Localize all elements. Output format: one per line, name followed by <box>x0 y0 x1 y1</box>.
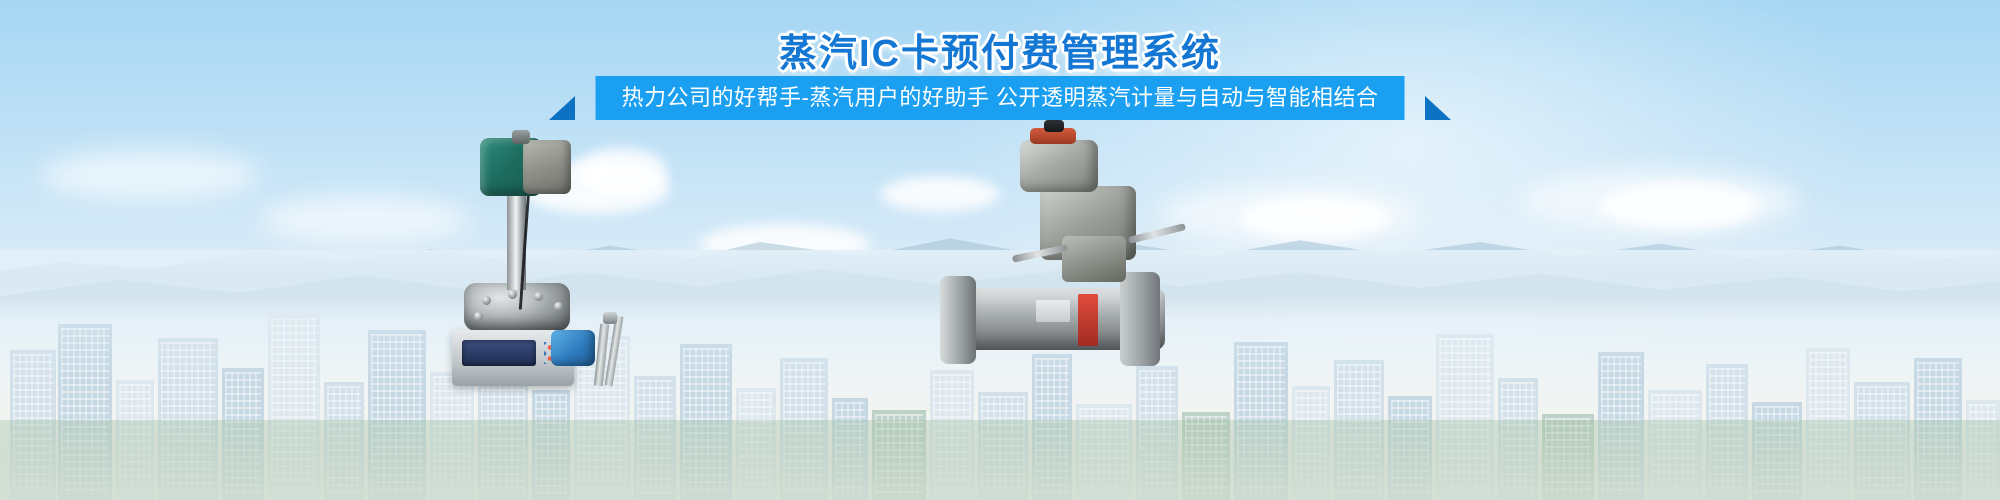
flange-bolt <box>482 296 491 305</box>
subtitle-text: 热力公司的好帮手-蒸汽用户的好助手 公开透明蒸汽计量与自动与智能相结合 <box>622 76 1379 120</box>
flange-bolt <box>508 290 517 299</box>
hero-banner: 蒸汽IC卡预付费管理系统 热力公司的好帮手-蒸汽用户的好助手 公开透明蒸汽计量与… <box>0 0 2000 500</box>
sensor-head <box>551 330 595 366</box>
valve-positioner <box>1062 236 1126 282</box>
valve-nameplate <box>1036 300 1070 322</box>
cloud <box>575 148 667 196</box>
ribbon-bar: 热力公司的好帮手-蒸汽用户的好助手 公开透明蒸汽计量与自动与智能相结合 <box>596 76 1405 120</box>
valve-solenoid <box>1044 120 1064 132</box>
ribbon-tail-left <box>549 96 575 120</box>
cloud <box>260 196 470 242</box>
valve-flange-left <box>940 276 976 364</box>
flange-bolt <box>474 312 483 321</box>
cloud <box>880 176 1000 212</box>
ribbon-tail-right <box>1425 96 1451 120</box>
flange-bolt <box>534 292 543 301</box>
flange-bolt <box>554 302 563 311</box>
cloud <box>1600 182 1760 230</box>
cable-gland-cap <box>512 130 530 144</box>
valve-flange-right <box>1120 272 1160 366</box>
cloud <box>40 150 260 200</box>
cloud <box>1240 196 1390 240</box>
valve-marker-band <box>1078 294 1098 346</box>
valve-actuator <box>1020 140 1098 192</box>
controller-lcd-display <box>462 340 536 366</box>
flowmeter-housing <box>523 140 571 194</box>
page-title: 蒸汽IC卡预付费管理系统 <box>0 22 2000 77</box>
bottom-fade <box>0 410 2000 500</box>
sensor-probe-tip <box>603 312 617 324</box>
subtitle-ribbon: 热力公司的好帮手-蒸汽用户的好助手 公开透明蒸汽计量与自动与智能相结合 <box>0 76 2000 120</box>
